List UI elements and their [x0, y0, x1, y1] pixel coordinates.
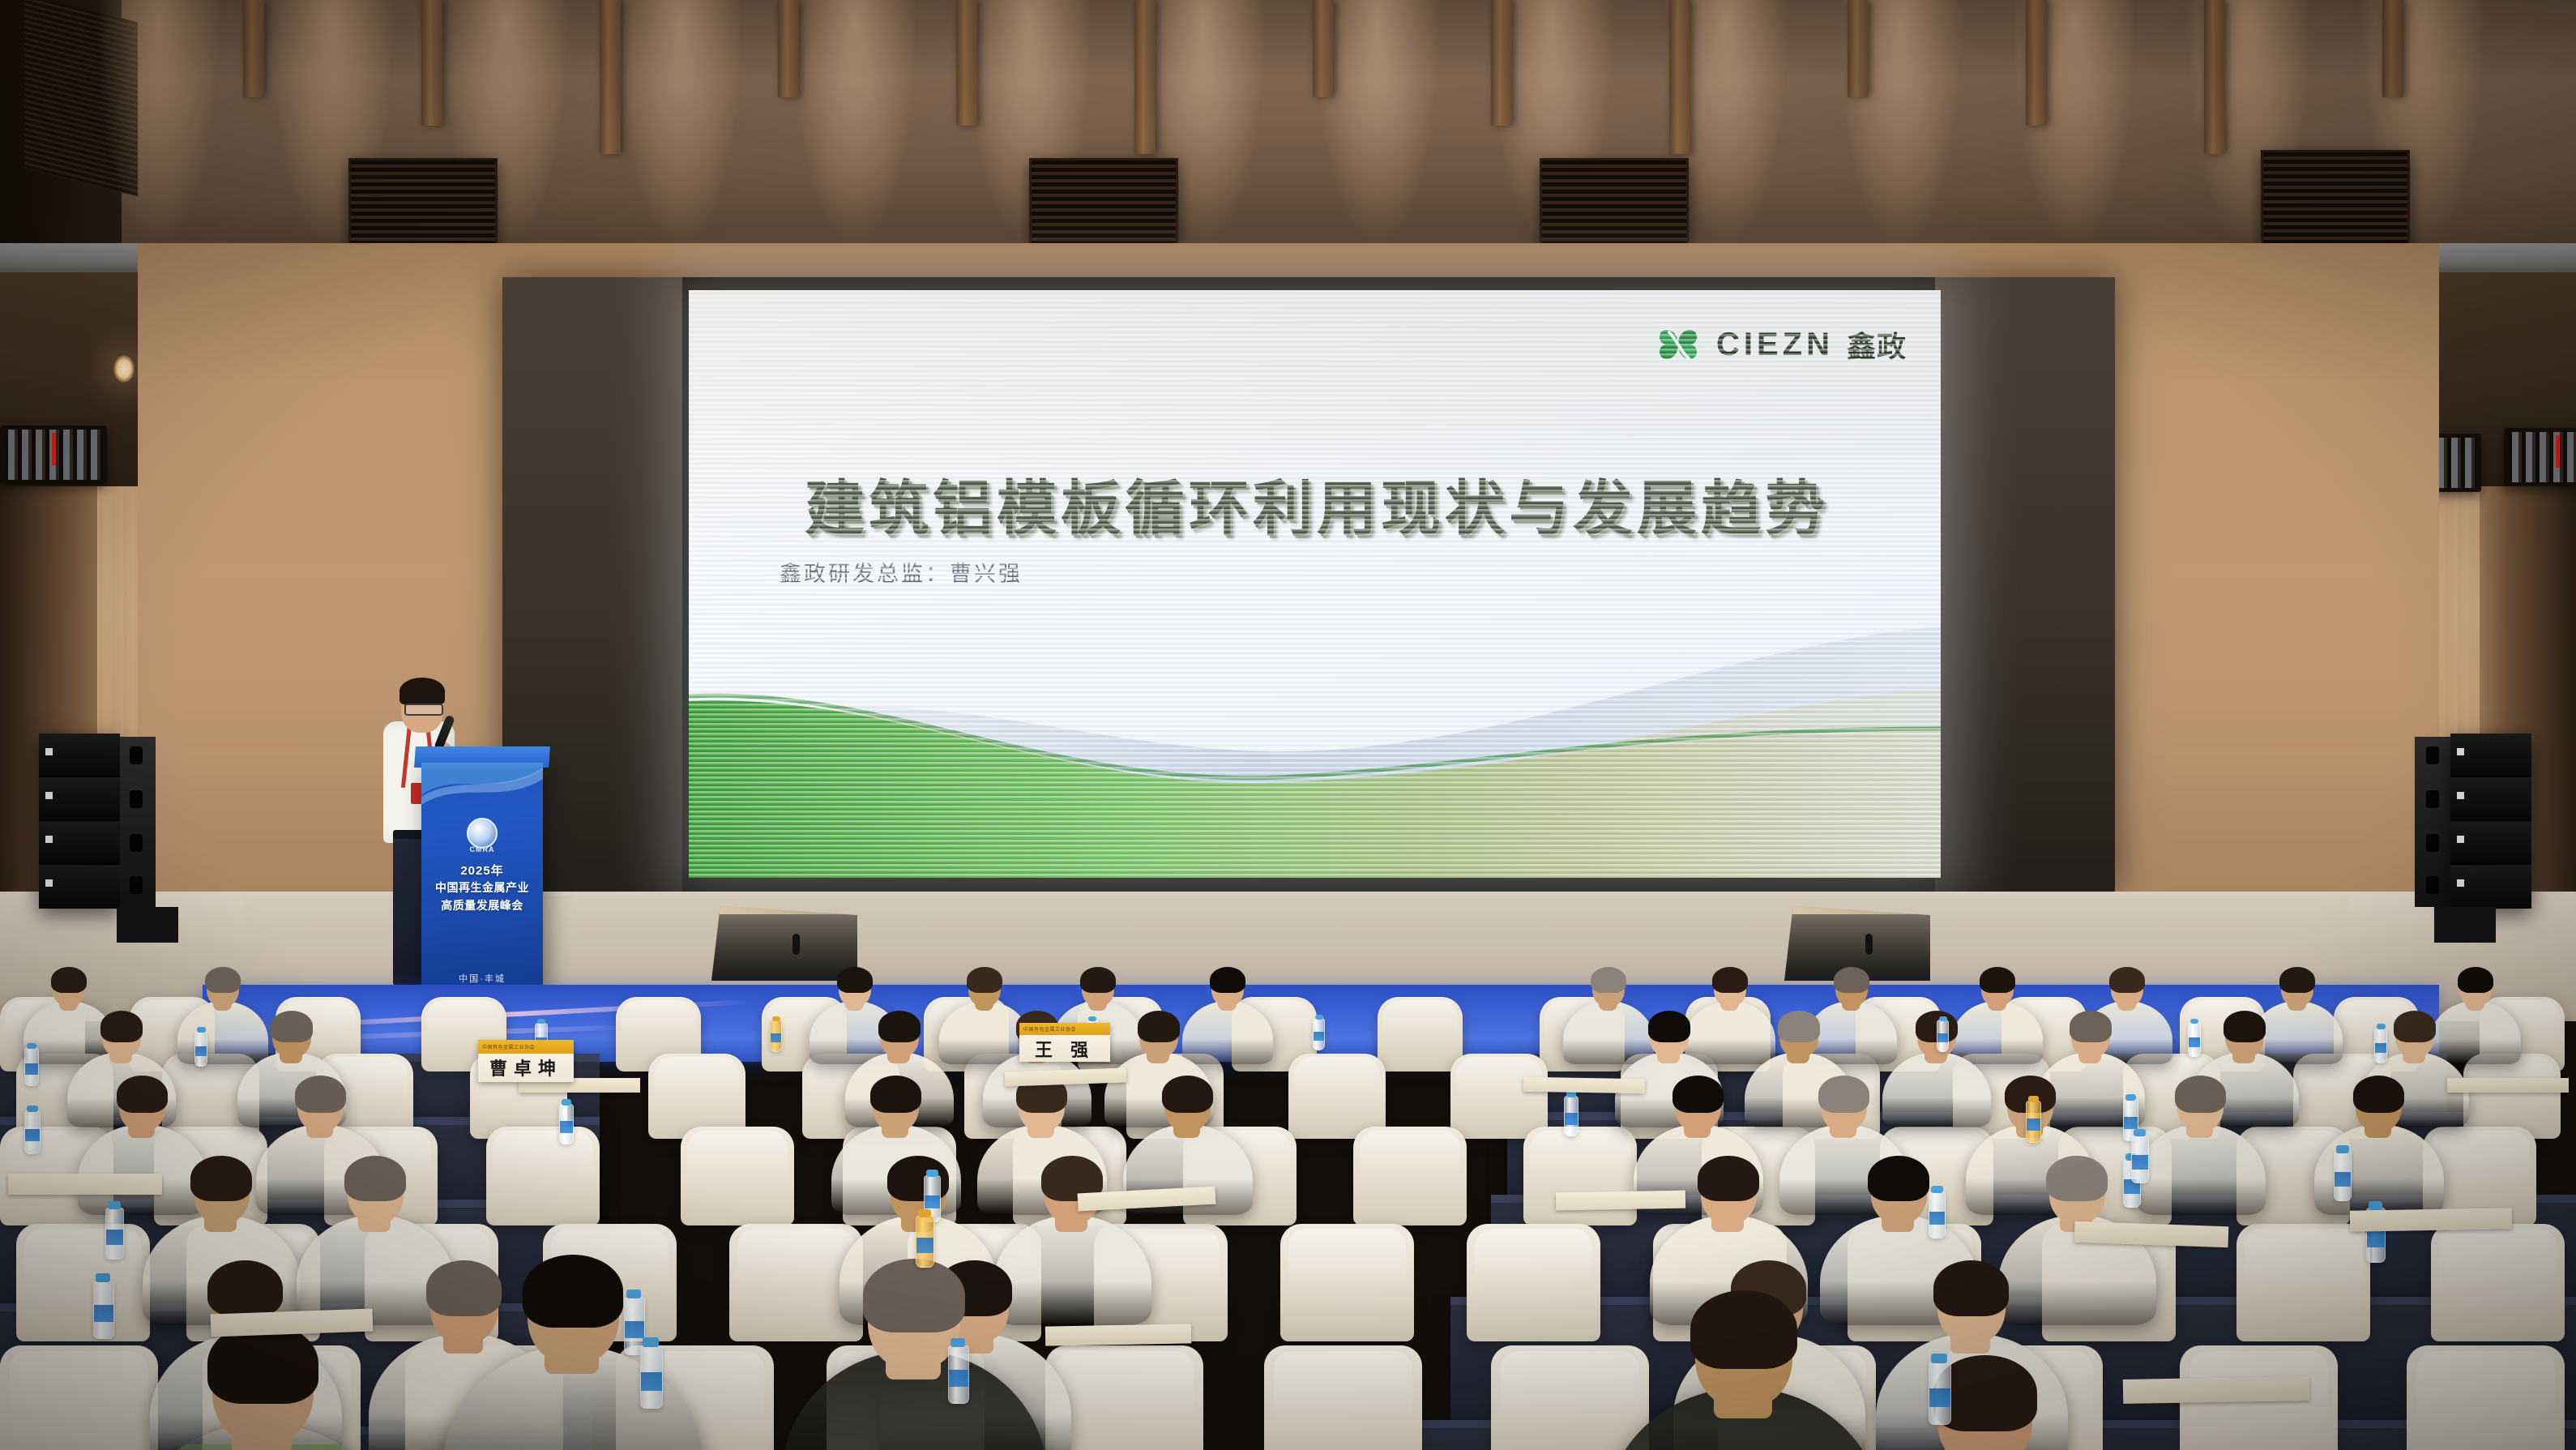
audience-member-hair [2394, 1011, 2436, 1042]
logo-chinese-name: 鑫政 [1847, 323, 1907, 366]
water-bottle [24, 1047, 39, 1086]
bottle-cap [27, 1043, 36, 1049]
bottle-label [1937, 1033, 1948, 1042]
audience-member-hair [1778, 1011, 1820, 1042]
screen-side-panel-right [1935, 277, 2115, 893]
bottle-cap [2369, 1201, 2382, 1210]
slide-title: 建筑铝模板循环利用现状与发展趋势 [737, 460, 1896, 547]
audience-member-hair [870, 1076, 921, 1113]
bottle-label [2367, 1231, 2385, 1247]
audience-chair[interactable] [2407, 1345, 2565, 1450]
bottle-cap [2125, 1094, 2136, 1101]
notepad-paper [2350, 1208, 2512, 1231]
bottle-label [1929, 1388, 1950, 1407]
bottle-label [1314, 1032, 1324, 1041]
audience-chair[interactable] [2236, 1224, 2370, 1341]
ceiling-light-wash [794, 0, 916, 243]
water-bottle [2131, 1135, 2149, 1183]
bottle-label [2335, 1172, 2351, 1187]
audience-chair[interactable] [1523, 1127, 1637, 1225]
niche-red-marker [2556, 435, 2560, 468]
bottle-label [106, 1230, 123, 1245]
lectern-line-3: 高质量发展峰会 [421, 897, 543, 913]
audience-chair[interactable] [1467, 1224, 1600, 1341]
presenter-hair [399, 678, 445, 705]
bottle-cap [1939, 1016, 1947, 1021]
bottle-label [771, 1033, 781, 1042]
water-bottle [105, 1208, 124, 1260]
audience-member-hair [1162, 1076, 1213, 1113]
audience-member-hair [2458, 967, 2493, 993]
bottle-label [560, 1121, 573, 1132]
lectern-line-2: 中国再生金属产业 [421, 879, 543, 896]
bottle-cap [108, 1201, 121, 1209]
audience-member-hair [1868, 1156, 1929, 1201]
bottle-cap [643, 1337, 659, 1347]
audience-member-hair [863, 1259, 964, 1333]
bottle-label [25, 1129, 40, 1142]
audience-member-hair [2109, 967, 2145, 993]
bottle-label [949, 1370, 968, 1387]
water-bottle [2334, 1151, 2352, 1201]
audience-member-foreground [859, 1264, 1124, 1450]
notepad-paper [2447, 1078, 2569, 1093]
audience-member-hair [2046, 1156, 2108, 1201]
bottle-cap [537, 1019, 545, 1024]
audience-member-hair [1712, 967, 1748, 993]
ceiling-baffle [1669, 0, 1690, 154]
audience-chair[interactable] [1264, 1345, 1422, 1450]
ceiling-baffle [778, 0, 799, 97]
audience-chair[interactable] [1491, 1345, 1649, 1450]
audience-member-hair [1698, 1156, 1759, 1201]
ceiling-baffle [2382, 0, 2403, 97]
audience-chair[interactable] [0, 1345, 158, 1450]
bottle-cap [96, 1273, 110, 1282]
ceiling-light-wash [620, 0, 741, 243]
audience-member-hair [1980, 967, 2015, 993]
bottle-cap [1931, 1186, 1943, 1193]
audience-member-hair [205, 967, 241, 993]
bottle-cap [951, 1338, 965, 1347]
water-bottle [2188, 1023, 2201, 1057]
bottle-cap [197, 1027, 206, 1033]
audience-member-hair [207, 1260, 283, 1316]
water-bottle [2026, 1101, 2041, 1143]
audience-member-hair [2224, 1011, 2266, 1042]
bottle-label [195, 1046, 207, 1057]
name-card-org-text: 中国有色金属工业协会 [1019, 1025, 1076, 1033]
cmra-emblem-label: CMRA [470, 845, 495, 853]
audience-member-hair [426, 1260, 502, 1316]
audience-member-hair [1834, 967, 1869, 993]
audience-member-hair [1210, 967, 1245, 993]
bottle-label [2124, 1117, 2138, 1129]
bottle-label [2189, 1037, 2200, 1047]
water-bottle [24, 1110, 41, 1154]
audience-member-hair [1690, 1290, 1797, 1369]
bottle-cap [1315, 1015, 1323, 1020]
notepad-paper [1523, 1077, 1645, 1094]
ceiling-light-wash [97, 0, 219, 243]
bottle-label [916, 1238, 933, 1253]
audience-member-hair [190, 1156, 252, 1201]
ceiling-baffle [956, 0, 977, 126]
water-bottle [1929, 1362, 1951, 1425]
table-name-card: 中国有色金属工业协会曹卓坤 [478, 1040, 574, 1082]
cmra-emblem-icon [467, 818, 498, 849]
audience-member-hair [1080, 967, 1116, 993]
water-bottle [2374, 1028, 2387, 1063]
name-card-name: 曹卓坤 [478, 1054, 574, 1082]
audience-member-hair [117, 1076, 168, 1113]
audience-chair[interactable] [2431, 1224, 2565, 1341]
notepad-paper [1045, 1324, 1191, 1345]
slide-brand-logo: CIEZN 鑫政 [1653, 319, 1907, 370]
ceiling-baffle [421, 0, 442, 126]
logo-wordmark: CIEZN [1716, 327, 1834, 363]
audience-member-foreground [1685, 1297, 1966, 1450]
bottle-cap [27, 1106, 38, 1112]
bottle-cap [2028, 1096, 2039, 1102]
water-bottle [93, 1281, 114, 1339]
notepad-paper [1556, 1191, 1685, 1211]
audience-member-hair [1591, 967, 1626, 993]
name-card-name: 王 强 [1019, 1035, 1110, 1062]
bottle-cap [1088, 1016, 1096, 1021]
audience-member-hair [1138, 1011, 1180, 1042]
audience-chair[interactable] [1378, 997, 1463, 1071]
water-bottle [948, 1345, 969, 1404]
slide-wave-decoration [689, 610, 1941, 878]
audience-member-hair [878, 1011, 921, 1042]
bottle-label [625, 1321, 644, 1338]
audience-member-hair [1672, 1076, 1724, 1113]
bottle-cap [2134, 1129, 2146, 1136]
bottle-cap [2336, 1145, 2349, 1153]
water-bottle [559, 1104, 574, 1144]
ceiling-baffle [243, 0, 264, 97]
conference-hall-scene: CIEZN 鑫政 建筑铝模板循环利用现状与发展趋势 鑫政研发总监：曹兴强 [0, 0, 2576, 1450]
wall-recessed-niche [2504, 428, 2576, 486]
audience-chair[interactable] [1450, 1054, 1548, 1139]
slide-subtitle: 鑫政研发总监：曹兴强 [780, 556, 1023, 588]
bottle-cap [626, 1290, 641, 1298]
water-bottle [1937, 1020, 1949, 1052]
bottle-label [2375, 1043, 2386, 1054]
audience-member-foreground [1929, 1362, 2199, 1450]
water-bottle [916, 1216, 934, 1268]
audience-chair[interactable] [681, 1127, 794, 1225]
ceiling-baffle [2204, 0, 2225, 154]
audience-member-hair [2175, 1076, 2226, 1113]
water-bottle [640, 1345, 663, 1409]
water-bottle [194, 1031, 207, 1067]
wall-recessed-niche [0, 426, 107, 484]
bottle-label [925, 1196, 940, 1209]
audience-member-hair [2070, 1011, 2112, 1042]
bottle-label [1565, 1113, 1578, 1124]
audience-member-hair [295, 1076, 346, 1113]
bottle-label [1929, 1212, 1945, 1225]
water-bottle [1564, 1096, 1578, 1136]
audience-member-hair [1648, 1011, 1690, 1042]
lectern-place-label: 中国·丰城 [421, 972, 543, 985]
speaker-lectern: CMRA 2025年 中国再生金属产业 高质量发展峰会 中国·丰城 [421, 758, 543, 993]
audience-member-hair [344, 1156, 406, 1201]
audience-member-hair [2279, 967, 2315, 993]
water-bottle [770, 1020, 782, 1052]
ceiling-downlight [113, 355, 135, 383]
audience-member-hair [967, 967, 1002, 993]
audience-chair[interactable] [1353, 1127, 1467, 1225]
name-card-org-text: 中国有色金属工业协会 [478, 1043, 535, 1050]
bottle-label [25, 1063, 38, 1075]
bottle-cap [562, 1099, 571, 1106]
bottle-cap [772, 1016, 780, 1021]
led-presentation-screen: CIEZN 鑫政 建筑铝模板循环利用现状与发展趋势 鑫政研发总监：曹兴强 [689, 290, 1941, 878]
audience-member-hair [837, 967, 873, 993]
bottle-cap [926, 1170, 938, 1177]
ciezn-pinwheel-logo-icon [1653, 319, 1703, 370]
water-bottle [1313, 1018, 1325, 1050]
bottle-label [2132, 1155, 2148, 1169]
bottle-cap [2377, 1024, 2386, 1029]
notepad-paper [2123, 1376, 2309, 1404]
ceiling-baffle [2026, 0, 2047, 126]
audience-chair[interactable] [1280, 1224, 1414, 1341]
table-name-card: 中国有色金属工业协会王 强 [1019, 1023, 1110, 1062]
audience-member-hair [523, 1255, 623, 1328]
bottle-cap [1931, 1354, 1947, 1363]
presenter-eyeglasses-icon [404, 704, 443, 716]
ceiling-baffle [1313, 0, 1334, 97]
notepad-paper [8, 1174, 162, 1195]
bottle-cap [2190, 1019, 2198, 1024]
audience-member [2350, 1078, 2488, 1215]
ceiling-baffle [1491, 0, 1512, 126]
name-card-org-bar: 中国有色金属工业协会 [478, 1040, 574, 1054]
bottle-label [2027, 1119, 2040, 1131]
audience-member-hair [271, 1011, 313, 1042]
niche-red-marker [52, 433, 56, 465]
audience-chair[interactable] [16, 1224, 150, 1341]
audience-member-hair [1818, 1076, 1869, 1113]
bottle-label [94, 1305, 113, 1322]
bottle-cap [918, 1209, 931, 1217]
ceiling-vent-grille [2261, 150, 2410, 252]
audience-member-hair [2353, 1076, 2404, 1113]
lectern-line-1: 2025年 [421, 862, 543, 879]
ceiling-baffle [1848, 0, 1869, 97]
bottle-label [641, 1372, 662, 1391]
ceiling-baffle [1134, 0, 1156, 154]
water-bottle [1929, 1191, 1946, 1238]
ceiling-light-wash [1317, 0, 1438, 243]
audience-member-hair [51, 967, 87, 993]
name-card-org-bar: 中国有色金属工业协会 [1019, 1023, 1110, 1035]
audience-member-hair [100, 1011, 143, 1042]
ceiling-baffle [600, 0, 621, 154]
lectern-swoosh-graphic [421, 763, 543, 811]
